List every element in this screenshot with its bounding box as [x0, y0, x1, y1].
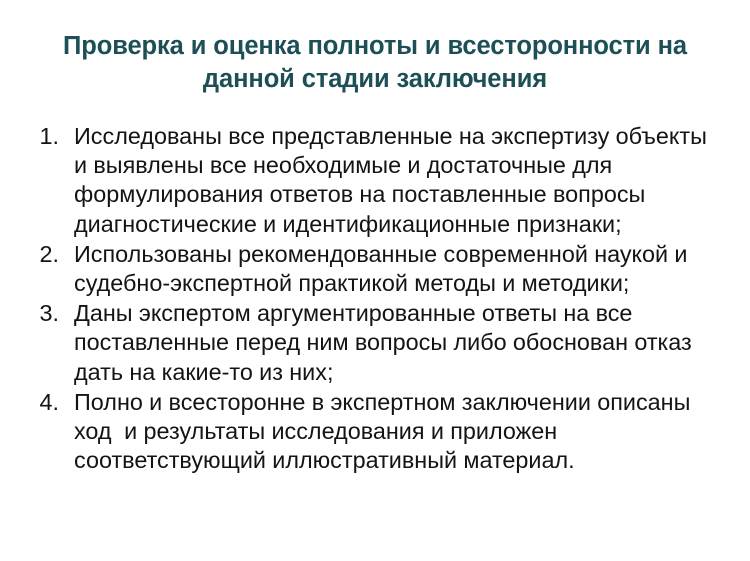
list-item-text: Исследованы все представленные на экспер… [74, 122, 722, 239]
list-item-number: 3. [28, 299, 74, 328]
list-item-number: 2. [28, 240, 74, 269]
list-item-number: 1. [28, 122, 74, 151]
list-item-text: Даны экспертом аргументированные ответы … [74, 299, 722, 387]
list-item-text: Полно и всесторонне в экспертном заключе… [74, 388, 722, 476]
numbered-list: 1. Исследованы все представленные на экс… [28, 122, 722, 476]
page-title-line-1: Проверка и оценка полноты и всестороннос… [40, 30, 710, 63]
slide-canvas: Проверка и оценка полноты и всестороннос… [0, 0, 750, 561]
list-item: 4. Полно и всесторонне в экспертном закл… [28, 388, 722, 476]
list-item: 3. Даны экспертом аргументированные отве… [28, 299, 722, 387]
list-item-number: 4. [28, 388, 74, 417]
page-title-line-2: данной стадии заключения [40, 63, 710, 96]
list-item: 1. Исследованы все представленные на экс… [28, 122, 722, 239]
page-title: Проверка и оценка полноты и всестороннос… [40, 30, 710, 96]
list-item: 2. Использованы рекомендованные современ… [28, 240, 722, 298]
list-item-text: Использованы рекомендованные современной… [74, 240, 722, 298]
